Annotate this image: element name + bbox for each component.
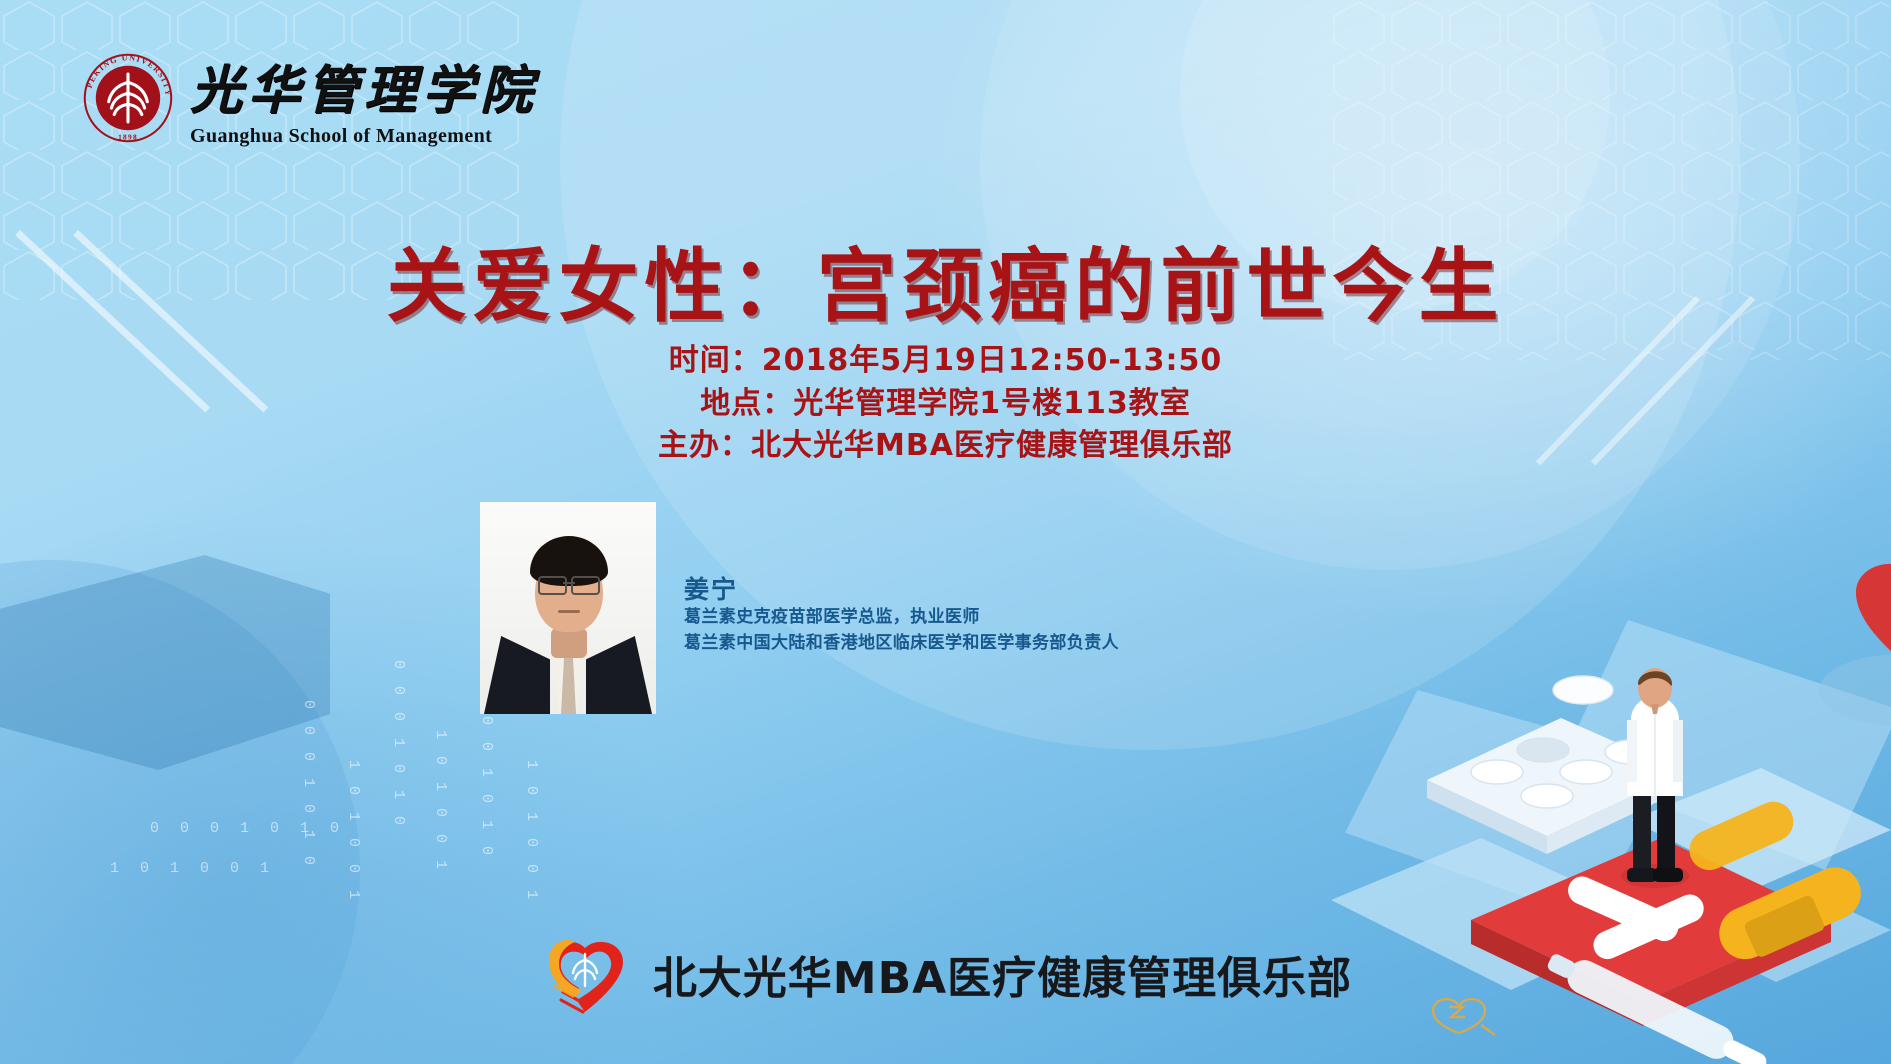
poster-canvas: 0 0 0 1 0 1 0 1 0 1 0 0 1 0 0 0 1 0 1 0 … bbox=[0, 0, 1891, 1064]
speaker-title-line-2: 葛兰素中国大陆和香港地区临床医学和医学事务部负责人 bbox=[684, 631, 1119, 657]
peking-university-seal-icon: PEKING UNIVERSITY 1898 bbox=[82, 52, 174, 144]
event-time: 时间：2018年5月19日12:50-13:50 bbox=[0, 340, 1891, 383]
decorative-dot-column: 1 0 1 0 0 1 bbox=[432, 730, 449, 873]
event-details: 时间：2018年5月19日12:50-13:50 地点：光华管理学院1号楼113… bbox=[0, 340, 1891, 468]
school-name-chinese: 光华管理学院 bbox=[190, 66, 538, 118]
club-heart-logo-icon bbox=[539, 930, 631, 1018]
decorative-dot-column: 0 0 0 1 0 1 0 bbox=[300, 700, 317, 869]
speaker-block: 姜宁 葛兰素史克疫苗部医学总监，执业医师 葛兰素中国大陆和香港地区临床医学和医学… bbox=[480, 502, 1119, 714]
club-name: 北大光华MBA医疗健康管理俱乐部 bbox=[653, 942, 1352, 1006]
decorative-dot-row: 1 0 1 0 0 1 bbox=[110, 860, 275, 877]
page-title: 关爱女性：宫颈癌的前世今生 bbox=[0, 222, 1891, 338]
decorative-dot-column: 0 0 0 1 0 1 0 bbox=[478, 690, 495, 859]
decorative-dot-column: 1 0 1 0 0 1 bbox=[345, 760, 362, 903]
speaker-name: 姜宁 bbox=[684, 574, 1119, 605]
school-name-english: Guanghua School of Management bbox=[190, 125, 538, 148]
svg-text:1898: 1898 bbox=[118, 132, 138, 141]
decorative-dot-row: 0 0 0 1 0 1 0 bbox=[150, 820, 345, 837]
event-location: 地点：光华管理学院1号楼113教室 bbox=[0, 383, 1891, 426]
speaker-title-line-1: 葛兰素史克疫苗部医学总监，执业医师 bbox=[684, 605, 1119, 631]
decorative-dot-column: 0 0 0 1 0 1 0 bbox=[390, 660, 407, 829]
school-logo: PEKING UNIVERSITY 1898 光华管理学院 Guanghua S… bbox=[82, 52, 538, 148]
event-host: 主办：北大光华MBA医疗健康管理俱乐部 bbox=[0, 425, 1891, 468]
club-lockup: 北大光华MBA医疗健康管理俱乐部 bbox=[0, 930, 1891, 1018]
decorative-dot-column: 1 0 1 0 0 1 bbox=[523, 760, 540, 903]
decorative-slab-left bbox=[0, 555, 330, 770]
speaker-portrait bbox=[480, 502, 656, 714]
